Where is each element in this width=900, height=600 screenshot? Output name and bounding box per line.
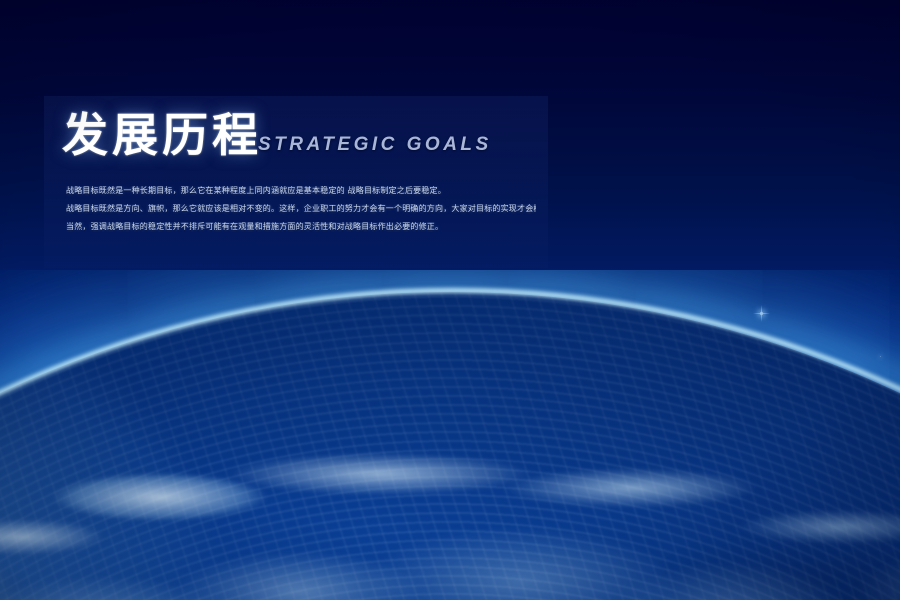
page-title-chinese: 发展历程 xyxy=(62,112,262,158)
body-copy: 战略目标既然是一种长期目标，那么它在某种程度上同内涵就应是基本稳定的 战略目标制… xyxy=(66,186,536,239)
page-title: 发展历程 STRATEGIC GOALS xyxy=(62,112,492,158)
hero-banner: 发展历程 STRATEGIC GOALS 战略目标既然是一种长期目标，那么它在某… xyxy=(0,0,900,600)
body-paragraph: 战略目标既然是方向、旗帜，那么它就应该是相对不变的。这样，企业职工的努力才会有一… xyxy=(66,204,536,215)
earth-globe xyxy=(0,270,900,600)
body-paragraph: 当然，强调战略目标的稳定性并不排斥可能有在观量和措施方面的灵活性和对战略目标作出… xyxy=(66,222,536,233)
body-paragraph: 战略目标既然是一种长期目标，那么它在某种程度上同内涵就应是基本稳定的 战略目标制… xyxy=(66,186,536,197)
page-subtitle-english: STRATEGIC GOALS xyxy=(258,134,492,158)
earth-sphere xyxy=(0,292,900,600)
